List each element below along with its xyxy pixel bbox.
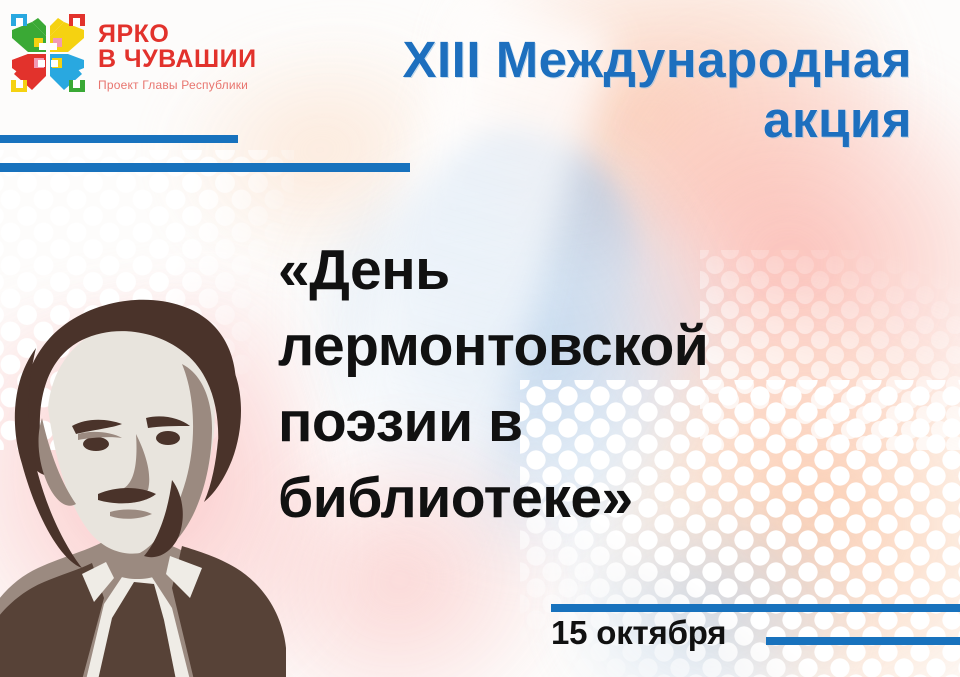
pinwheel-logo-icon	[6, 8, 90, 98]
main-title-line-1: «День	[278, 232, 898, 308]
logo-wordmark: ЯРКО В ЧУВАШИИ Проект Главы Республики	[98, 8, 257, 93]
rule-top-long	[0, 163, 410, 172]
rule-bottom-short	[766, 637, 960, 645]
main-title-line-4: библиотеке»	[278, 460, 898, 536]
rule-top-short	[0, 135, 238, 143]
event-date: 15 октября	[551, 613, 726, 653]
poster-canvas: ЯРКО В ЧУВАШИИ Проект Главы Республики X…	[0, 0, 960, 677]
main-title-line-2: лермонтовской	[278, 308, 898, 384]
main-title-line-3: поэзии в	[278, 384, 898, 460]
page-title: «День лермонтовской поэзии в библиотеке»	[278, 232, 898, 536]
logo-title-line1: ЯРКО	[98, 22, 257, 47]
rule-bottom-long	[551, 604, 960, 612]
lermontov-portrait	[0, 268, 286, 677]
headline-line-1: XIII Международная	[222, 30, 912, 90]
logo-title-line2: В ЧУВАШИИ	[98, 47, 257, 72]
event-headline: XIII Международная акция	[222, 30, 912, 150]
brand-logo: ЯРКО В ЧУВАШИИ Проект Главы Республики	[6, 8, 257, 98]
headline-line-2: акция	[222, 90, 912, 150]
logo-subtitle: Проект Главы Республики	[98, 77, 257, 93]
